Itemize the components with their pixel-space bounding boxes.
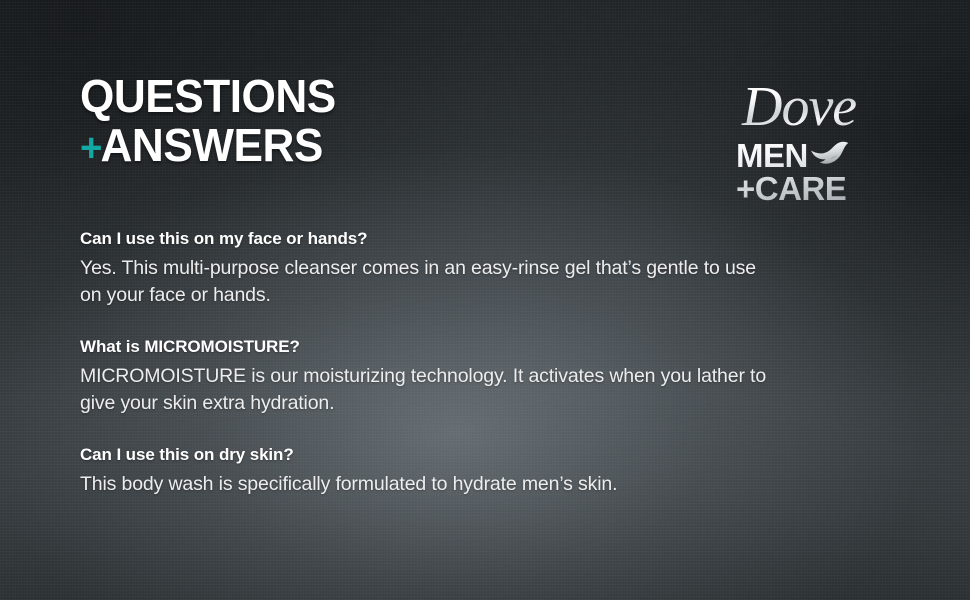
faq-question: Can I use this on my face or hands? bbox=[80, 228, 880, 250]
faq-question: What is MICROMOISTURE? bbox=[80, 336, 880, 358]
brand-logo-care: +CARE bbox=[736, 172, 892, 206]
brand-logo-dove: Dove bbox=[736, 78, 856, 136]
faq-item: Can I use this on dry skin? This body wa… bbox=[80, 444, 880, 498]
headline-line-answers: +ANSWERS bbox=[80, 121, 336, 173]
plus-icon: + bbox=[80, 126, 101, 170]
faq-question: Can I use this on dry skin? bbox=[80, 444, 880, 466]
headline-line-questions: QUESTIONS bbox=[80, 72, 336, 121]
faq-answer: MICROMOISTURE is our moisturizing techno… bbox=[80, 363, 780, 417]
faq-item: What is MICROMOISTURE? MICROMOISTURE is … bbox=[80, 336, 880, 417]
faq-item: Can I use this on my face or hands? Yes.… bbox=[80, 228, 880, 309]
brand-logo-men: MEN bbox=[736, 139, 808, 172]
page-title: QUESTIONS +ANSWERS bbox=[80, 72, 346, 173]
faq-answer: This body wash is specifically formulate… bbox=[80, 471, 780, 498]
faq-answer: Yes. This multi-purpose cleanser comes i… bbox=[80, 255, 780, 309]
brand-logo: Dove MEN +CARE bbox=[736, 78, 892, 206]
brand-logo-men-row: MEN bbox=[736, 138, 892, 172]
dove-bird-icon bbox=[810, 140, 850, 171]
faq-list: Can I use this on my face or hands? Yes.… bbox=[80, 228, 880, 498]
headline-answers-text: ANSWERS bbox=[101, 119, 323, 171]
faq-banner: QUESTIONS +ANSWERS Dove MEN bbox=[0, 0, 970, 600]
headline-questions-text: QUESTIONS bbox=[80, 70, 336, 122]
